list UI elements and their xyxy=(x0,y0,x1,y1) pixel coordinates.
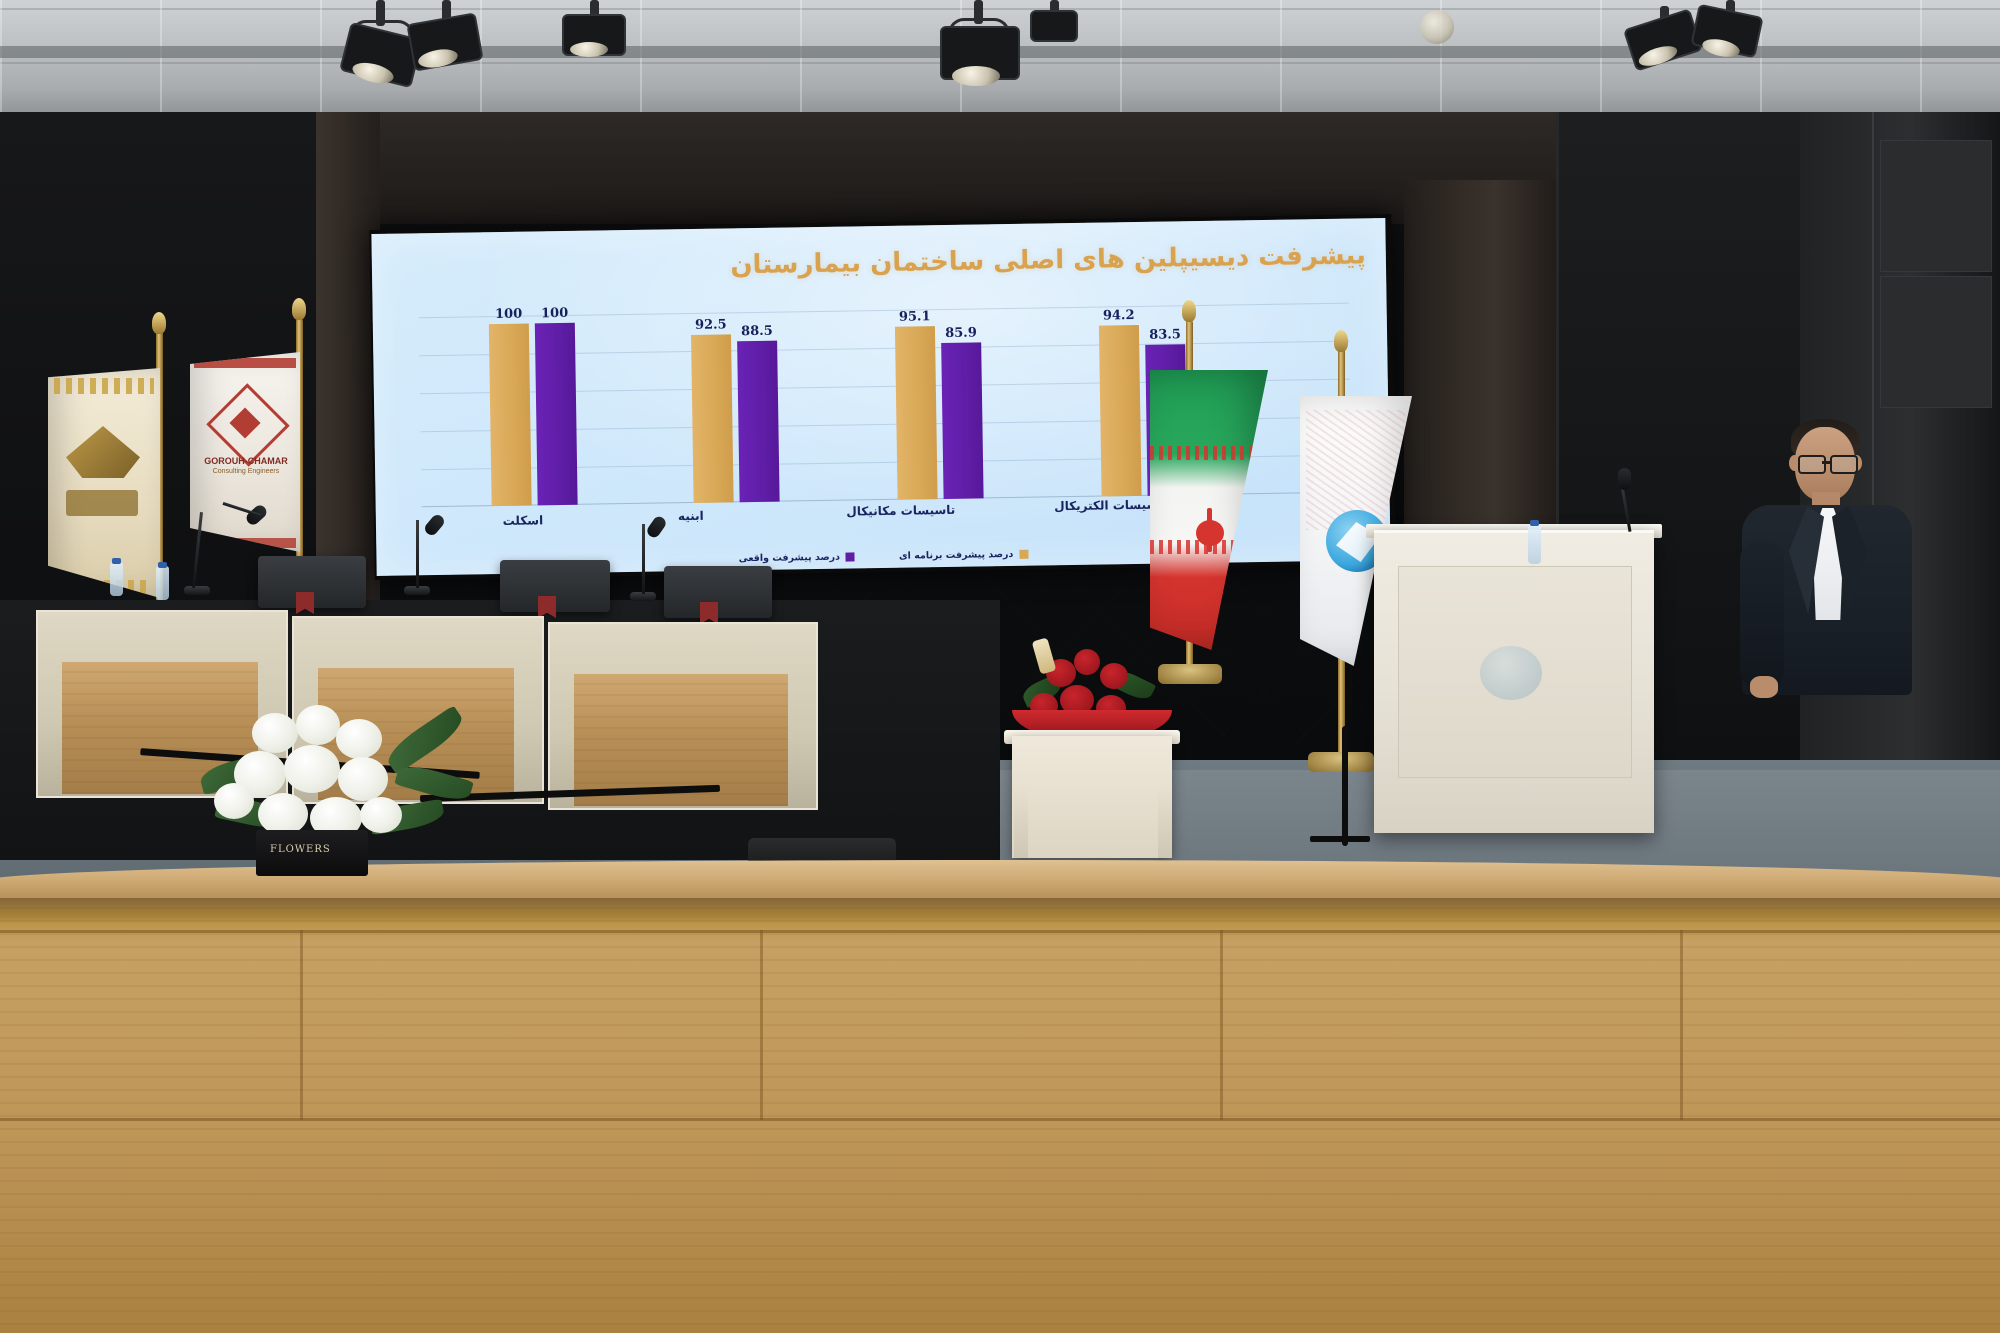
desk-mic-stem-2 xyxy=(416,520,419,588)
bar-group-structure: 92.5 88.5 xyxy=(667,301,810,503)
counter-vseam-3 xyxy=(1220,930,1223,1120)
iran-flag-emblem-sword-icon xyxy=(1207,508,1212,552)
legend-item-actual: درصد پیشرفت واقعی xyxy=(739,551,855,564)
legend-swatch-actual-icon xyxy=(846,552,855,561)
panel-chair-3[interactable] xyxy=(664,566,772,618)
bottle-cap-icon xyxy=(158,562,167,568)
flag-label-gorouh: GOROUH-CHAMAR xyxy=(202,456,290,466)
podium-logo-icon xyxy=(1470,640,1556,706)
white-flower-bouquet xyxy=(200,705,470,845)
category-label-mechanical: تاسیسات مکانیکال xyxy=(806,502,996,519)
bouquet-bloom xyxy=(336,719,382,759)
category-label-structure: ابنیه xyxy=(626,508,756,524)
desk-mic-stem-3 xyxy=(642,524,645,594)
side-table-leg-left xyxy=(1014,790,1028,858)
bar-value-label: 85.9 xyxy=(929,325,993,341)
counter-vseam-4 xyxy=(1680,930,1683,1120)
side-table xyxy=(1012,736,1172,858)
legend-label-plan: درصد پیشرفت برنامه ای xyxy=(899,549,1014,562)
bar-value-label: 88.5 xyxy=(725,323,789,339)
bar-value-label: 95.1 xyxy=(883,309,947,325)
water-bottle-1[interactable] xyxy=(110,562,123,596)
wall-tile-2 xyxy=(1880,276,1992,408)
eyeglasses-left-icon xyxy=(1798,455,1826,474)
bouquet-bloom xyxy=(214,783,254,819)
eyeglasses-bridge-icon xyxy=(1822,461,1830,464)
desk-mic-base-1 xyxy=(184,586,210,595)
conference-hall-scene: پیشرفت دیسیپلین های اصلی ساختمان بیمارست… xyxy=(0,0,2000,1333)
side-table-leg-right xyxy=(1158,790,1172,858)
speaker-arm xyxy=(1740,540,1784,690)
podium-cable-foot xyxy=(1310,836,1370,842)
bar-value-label: 100 xyxy=(523,306,587,322)
slide-title: پیشرفت دیسیپلین های اصلی ساختمان بیمارست… xyxy=(666,240,1366,281)
cream-flag xyxy=(48,368,160,598)
flag-sublabel-gorouh: Consulting Engineers xyxy=(202,468,290,475)
bouquet-bloom xyxy=(252,713,298,753)
legend-item-plan: درصد پیشرفت برنامه ای xyxy=(899,549,1029,562)
bouquet-bloom xyxy=(296,705,340,745)
bar-plan xyxy=(895,326,938,500)
counter-vseam-1 xyxy=(300,930,303,1120)
bottle-cap-icon xyxy=(1530,520,1539,526)
flag-finial-icon xyxy=(152,312,166,334)
bar-plan xyxy=(489,324,532,507)
bar-value-label: 94.2 xyxy=(1087,308,1151,324)
vase-brand-label: FLOWERS xyxy=(270,844,331,855)
legend-swatch-plan-icon xyxy=(1019,550,1028,559)
water-bottle-2[interactable] xyxy=(156,566,169,600)
water-bottle-podium[interactable] xyxy=(1528,524,1541,564)
bar-group-mechanical: 95.1 85.9 xyxy=(870,298,1013,500)
legend-label-actual: درصد پیشرفت واقعی xyxy=(739,552,840,565)
flower-bloom xyxy=(1074,649,1100,675)
bouquet-leaf xyxy=(394,761,474,805)
bar-actual xyxy=(941,342,983,499)
bouquet-bloom xyxy=(284,745,340,793)
podium-mic-head-icon[interactable] xyxy=(1618,468,1631,490)
bar-plan xyxy=(691,334,734,503)
bar-actual xyxy=(535,323,578,506)
wall-tile-1 xyxy=(1880,140,1992,272)
counter-vseam-2 xyxy=(760,930,763,1120)
flag-finial-icon xyxy=(292,298,306,320)
bar-group-skeleton: 100 100 xyxy=(463,304,606,506)
bottle-cap-icon xyxy=(112,558,121,564)
category-label-skeleton: اسکلت xyxy=(468,513,578,529)
eyeglasses-right-icon xyxy=(1830,455,1858,474)
bouquet-leaf xyxy=(382,705,468,775)
gorouh-chamar-flag: GOROUH-CHAMAR Consulting Engineers xyxy=(190,352,300,552)
podium-cable xyxy=(1342,726,1348,846)
speaker-hand xyxy=(1750,676,1778,698)
flag-finial-icon xyxy=(1182,300,1196,322)
front-counter-shadow xyxy=(0,898,2000,924)
bar-actual xyxy=(737,341,780,503)
bouquet-bloom xyxy=(258,793,308,835)
bouquet-bloom xyxy=(338,757,388,801)
flag-finial-icon xyxy=(1334,330,1348,352)
bouquet-bloom xyxy=(360,797,402,833)
bar-plan xyxy=(1099,325,1142,497)
flower-bloom xyxy=(1100,663,1128,689)
flag-base-org xyxy=(1308,752,1374,772)
flag-base-iran xyxy=(1158,664,1222,684)
wall-wood-header xyxy=(316,112,1556,224)
